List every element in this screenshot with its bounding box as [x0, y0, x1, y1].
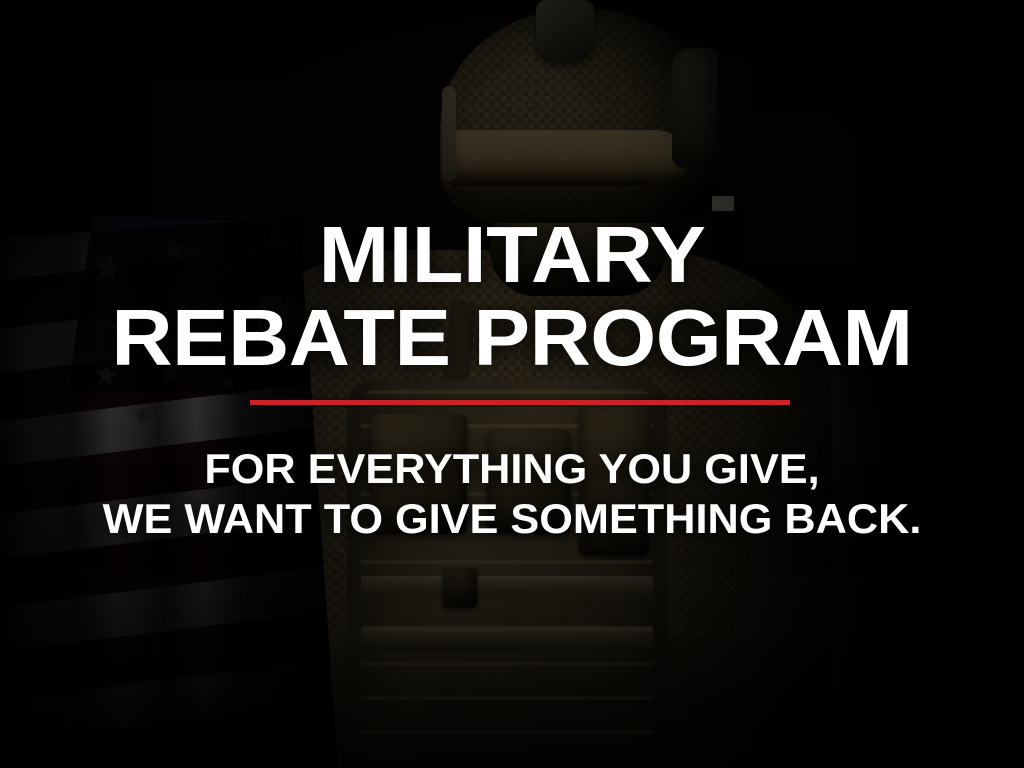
waist-belt [361, 626, 653, 652]
american-flag: ★ ★ ★ ★ ★ ★ ★ ★ ★ ★ [0, 217, 338, 768]
ir-identification-patch [712, 196, 734, 211]
plate-carrier [347, 380, 667, 768]
flag-shadow-overlay [0, 217, 338, 768]
military-rebate-banner: ★ ★ ★ ★ ★ ★ ★ ★ ★ ★ MILITARY REBATE PROG… [0, 0, 1024, 768]
combat-helmet [440, 8, 720, 223]
background-photo: ★ ★ ★ ★ ★ ★ ★ ★ ★ ★ [0, 0, 1024, 768]
utility-pouch [487, 430, 571, 534]
cummerbund-strap [361, 576, 653, 598]
helmet-rail-left [442, 86, 456, 182]
admin-pouch [579, 406, 649, 556]
helmet-accessory-mount [672, 48, 718, 168]
helmet-velcro-band [448, 130, 688, 186]
night-vision-mount-icon [536, 0, 594, 62]
magazine-pouch [371, 414, 467, 534]
buckle [443, 568, 477, 608]
